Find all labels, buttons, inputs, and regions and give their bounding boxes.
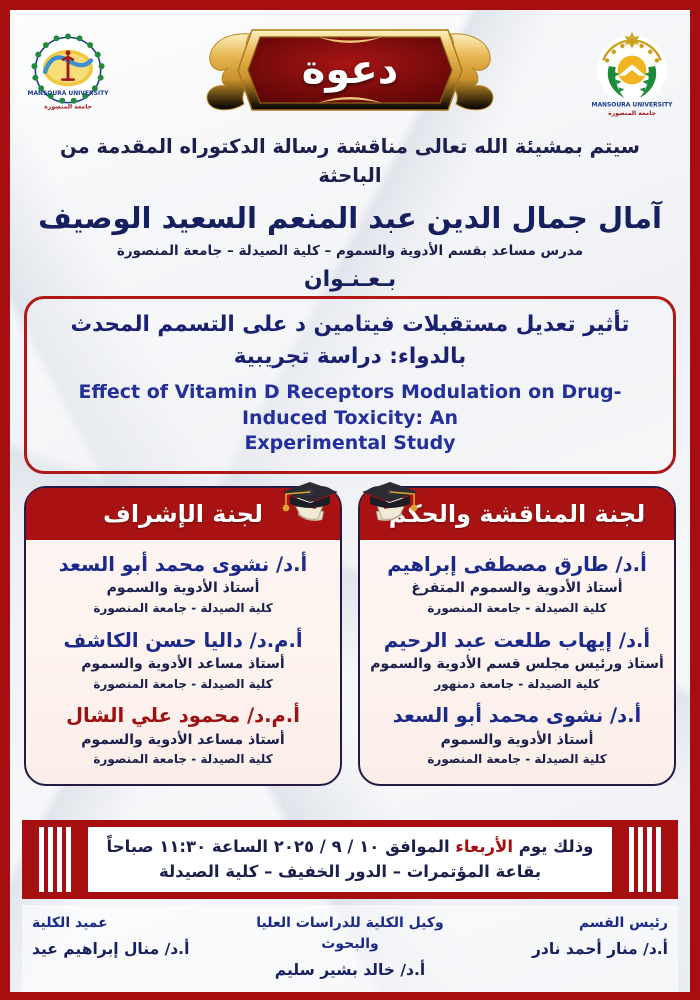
- member-faculty: كلية الصيدلة - جامعة المنصورة: [368, 600, 666, 617]
- committees-row: لجنة المناقشة والحكم أ.د/ طارق مصطفى إبر…: [10, 474, 690, 786]
- invitation-banner: دعوة: [190, 24, 510, 116]
- announcement-line: سيتم بمشيئة الله تعالى مناقشة رسالة الدك…: [36, 132, 664, 191]
- poster-sheet: MANSOURA UNIVERSITY جامعة المنصورة: [10, 10, 690, 992]
- discussion-committee-panel: لجنة المناقشة والحكم أ.د/ طارق مصطفى إبر…: [358, 486, 676, 786]
- svg-text:MANSOURA UNIVERSITY: MANSOURA UNIVERSITY: [28, 90, 110, 97]
- member-faculty: كلية الصيدلة - جامعة المنصورة: [34, 676, 332, 693]
- member-rank: أستاذ الأدوية والسموم: [34, 579, 332, 599]
- member-rank: أستاذ مساعد الأدوية والسموم: [34, 655, 332, 675]
- poster-header: MANSOURA UNIVERSITY جامعة المنصورة: [10, 10, 690, 130]
- committee-member: أ.د/ نشوى محمد أبو السعد أستاذ الأدوية و…: [368, 703, 666, 768]
- member-faculty: كلية الصيدلة - جامعة المنصورة: [34, 751, 332, 768]
- event-prefix: وذلك يوم: [519, 837, 594, 856]
- member-faculty: كلية الصيدلة - جامعة دمنهور: [368, 676, 666, 693]
- member-name: أ.د/ طارق مصطفى إبراهيم: [368, 552, 666, 578]
- committee-member: أ.د/ طارق مصطفى إبراهيم أستاذ الأدوية وا…: [368, 552, 666, 617]
- layout-spacer: [10, 786, 690, 810]
- svg-text:جامعة المنصورة: جامعة المنصورة: [44, 103, 92, 110]
- committee-member: أ.د/ نشوى محمد أبو السعد أستاذ الأدوية و…: [34, 552, 332, 617]
- event-day: الأربعاء: [455, 837, 513, 856]
- intro-block: سيتم بمشيئة الله تعالى مناقشة رسالة الدك…: [10, 130, 690, 292]
- event-details-box: وذلك يوم الأربعاء الموافق ١٠ / ٩ / ٢٠٢٥ …: [88, 827, 612, 892]
- member-name: أ.م.د/ داليا حسن الكاشف: [34, 628, 332, 654]
- thesis-title-box: تأثير تعديل مستقبلات فيتامين د على التسم…: [24, 296, 676, 474]
- member-rank: أستاذ ورئيس مجلس قسم الأدوية والسموم: [368, 655, 666, 675]
- signature-role: وكيل الكلية للدراسات العليا والبحوث: [244, 913, 456, 955]
- member-name: أ.م.د/ محمود علي الشال: [34, 703, 332, 729]
- thesis-title-arabic: تأثير تعديل مستقبلات فيتامين د على التسم…: [45, 309, 655, 374]
- signature-name: أ.د/ منال إبراهيم عيد: [32, 937, 244, 961]
- signature-role: رئيس القسم: [456, 913, 668, 934]
- thesis-title-english-line2: Experimental Study: [244, 432, 455, 454]
- member-rank: أستاذ الأدوية والسموم: [368, 731, 666, 751]
- signature-department-head: رئيس القسم أ.د/ منار أحمد نادر: [456, 913, 668, 982]
- discussion-committee-members: أ.د/ طارق مصطفى إبراهيم أستاذ الأدوية وا…: [360, 540, 674, 784]
- invitation-poster: MANSOURA UNIVERSITY جامعة المنصورة: [0, 0, 700, 1000]
- thesis-title-wrap: تأثير تعديل مستقبلات فيتامين د على التسم…: [10, 292, 690, 474]
- signature-name: أ.د/ خالد بشير سليم: [244, 958, 456, 982]
- signature-role: عميد الكلية: [32, 913, 244, 934]
- event-venue-line: بقاعة المؤتمرات – الدور الخفيف – كلية ال…: [97, 859, 603, 885]
- member-rank: أستاذ الأدوية والسموم المتفرغ: [368, 579, 666, 599]
- researcher-affiliation: مدرس مساعد بقسم الأدوية والسموم – كلية ا…: [36, 243, 664, 259]
- entitled-label: بـعـنـوان: [36, 267, 664, 292]
- faculty-of-pharmacy-logo: MANSOURA UNIVERSITY جامعة المنصورة: [20, 22, 116, 118]
- member-faculty: كلية الصيدلة - جامعة المنصورة: [34, 600, 332, 617]
- supervision-committee-panel: لجنة الإشراف أ.د/ نشوى محمد أبو السعد أس…: [24, 486, 342, 786]
- member-name: أ.د/ نشوى محمد أبو السعد: [368, 703, 666, 729]
- event-details-strip: وذلك يوم الأربعاء الموافق ١٠ / ٩ / ٢٠٢٥ …: [22, 820, 678, 899]
- stripes-decoration-right: [612, 827, 678, 892]
- signatures-row: رئيس القسم أ.د/ منار أحمد نادر وكيل الكل…: [22, 905, 678, 992]
- thesis-title-english-line1: Effect of Vitamin D Receptors Modulation…: [78, 381, 621, 429]
- member-rank: أستاذ مساعد الأدوية والسموم: [34, 731, 332, 751]
- graduation-cap-icon: [356, 472, 430, 524]
- researcher-name: آمال جمال الدين عبد المنعم السعيد الوصيف: [36, 197, 664, 239]
- thesis-title-english: Effect of Vitamin D Receptors Modulation…: [45, 380, 655, 457]
- committee-member: أ.م.د/ داليا حسن الكاشف أستاذ مساعد الأد…: [34, 628, 332, 693]
- event-datetime-line: وذلك يوم الأربعاء الموافق ١٠ / ٩ / ٢٠٢٥ …: [97, 834, 603, 860]
- signature-dean: عميد الكلية أ.د/ منال إبراهيم عيد: [32, 913, 244, 982]
- svg-text:جامعة المنصورة: جامعة المنصورة: [608, 110, 656, 117]
- committee-member: أ.م.د/ محمود علي الشال أستاذ مساعد الأدو…: [34, 703, 332, 768]
- event-date-time: الموافق ١٠ / ٩ / ٢٠٢٥ الساعة ١١:٣٠ صباحا…: [107, 837, 450, 856]
- stripes-decoration-left: [22, 827, 88, 892]
- signature-name: أ.د/ منار أحمد نادر: [456, 937, 668, 961]
- mansoura-university-logo: MANSOURA UNIVERSITY جامعة المنصورة: [584, 22, 680, 118]
- member-name: أ.د/ إيهاب طلعت عبد الرحيم: [368, 628, 666, 654]
- svg-text:MANSOURA UNIVERSITY: MANSOURA UNIVERSITY: [592, 101, 674, 108]
- signature-vice-dean: وكيل الكلية للدراسات العليا والبحوث أ.د/…: [244, 913, 456, 982]
- committee-member: أ.د/ إيهاب طلعت عبد الرحيم أستاذ ورئيس م…: [368, 628, 666, 693]
- supervision-committee-members: أ.د/ نشوى محمد أبو السعد أستاذ الأدوية و…: [26, 540, 340, 784]
- graduation-cap-icon: [270, 472, 344, 524]
- member-name: أ.د/ نشوى محمد أبو السعد: [34, 552, 332, 578]
- member-faculty: كلية الصيدلة - جامعة المنصورة: [368, 751, 666, 768]
